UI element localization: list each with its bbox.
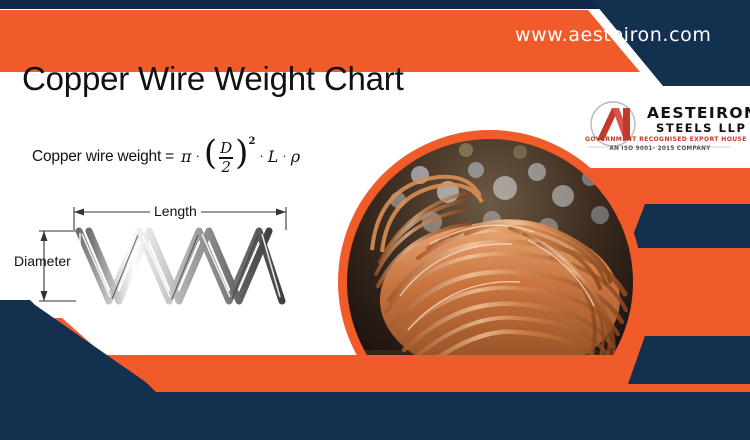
logo-iso-certification: AN ISO 9001- 2015 COMPANY: [585, 146, 735, 152]
multiply-dot-2: ·: [259, 149, 263, 162]
length-symbol: L: [268, 147, 279, 166]
page-title: Copper Wire Weight Chart: [22, 60, 492, 98]
parenthesized-fraction: ( D 2 ) 2: [204, 140, 256, 174]
coil-highlights: [80, 233, 280, 299]
diameter-label: Diameter: [14, 253, 86, 269]
paren-open: (: [204, 140, 217, 168]
formula-expression: π · ( D 2 ) 2 · L · ρ: [181, 140, 300, 174]
fraction-numerator: D: [220, 141, 232, 156]
multiply-dot-1: ·: [196, 149, 200, 162]
fraction-denominator: 2: [221, 160, 231, 175]
pi-symbol: π: [181, 147, 192, 166]
weight-formula: Copper wire weight = π · ( D 2 ) 2 · L ·…: [32, 140, 300, 174]
site-url[interactable]: www.aesteiron.com: [515, 24, 735, 46]
coil-body: [79, 231, 282, 301]
banner-canvas: www.aesteiron.com Copper Wire Weight Cha…: [0, 0, 750, 440]
density-symbol: ρ: [291, 147, 300, 166]
multiply-dot-3: ·: [282, 149, 286, 162]
company-logo[interactable]: AESTEIRON STEELS LLP GOVERNMENT RECOGNIS…: [583, 100, 735, 162]
length-label: Length: [150, 203, 201, 219]
diameter-over-two: D 2: [217, 141, 235, 175]
exponent-two: 2: [248, 136, 255, 147]
formula-label: Copper wire weight =: [32, 148, 174, 166]
logo-company-subtitle: STEELS LLP: [656, 121, 747, 135]
logo-company-name: AESTEIRON: [647, 104, 750, 122]
logo-tagline: GOVERNMENT RECOGNISED EXPORT HOUSE: [585, 136, 735, 143]
paren-close: ): [235, 140, 248, 168]
